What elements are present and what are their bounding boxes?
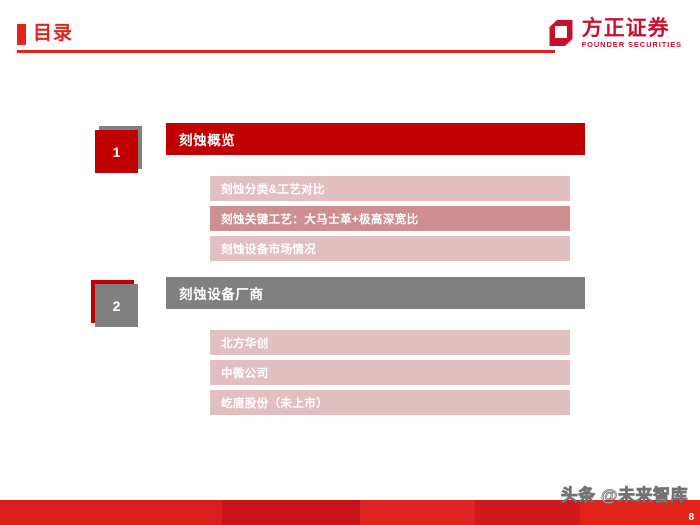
section-2-title: 刻蚀设备厂商 [166,283,264,303]
section-2-item-0[interactable]: 北方华创 [210,330,570,355]
section-2-item-1[interactable]: 中微公司 [210,360,570,385]
section-1-item-1[interactable]: 刻蚀关键工艺：大马士革+极高深宽比 [210,206,570,231]
section-2-number-badge[interactable]: 2 [95,284,138,327]
section-1-title: 刻蚀概览 [166,129,235,149]
table-of-contents: 1 刻蚀概览 刻蚀分类&工艺对比 刻蚀关键工艺：大马士革+极高深宽比 刻蚀设备市… [0,0,700,525]
section-1-item-2-label: 刻蚀设备市场情况 [210,241,316,257]
page-number: 8 [688,512,694,524]
section-1-item-2[interactable]: 刻蚀设备市场情况 [210,236,570,261]
section-2-item-0-label: 北方华创 [210,335,269,351]
footer-block-1 [0,500,222,525]
footer-block-4 [475,500,580,525]
section-1-item-0-label: 刻蚀分类&工艺对比 [210,181,325,197]
footer-bar [0,500,700,525]
footer-block-3 [360,500,475,525]
section-2-item-2-label: 屹唐股份（未上市） [210,395,328,411]
section-2-title-bar[interactable]: 刻蚀设备厂商 [166,277,585,309]
footer-block-2 [222,500,360,525]
section-2-item-1-label: 中微公司 [210,365,269,381]
section-2-item-2[interactable]: 屹唐股份（未上市） [210,390,570,415]
section-1-item-0[interactable]: 刻蚀分类&工艺对比 [210,176,570,201]
footer-block-5 [580,500,700,525]
section-1-title-bar[interactable]: 刻蚀概览 [166,123,585,155]
slide-root: 目录 方正证券 FOUNDER SECURITIES 1 刻蚀概览 [0,0,700,525]
section-1-item-1-label: 刻蚀关键工艺：大马士革+极高深宽比 [210,211,419,227]
section-1-number-badge[interactable]: 1 [95,130,138,173]
